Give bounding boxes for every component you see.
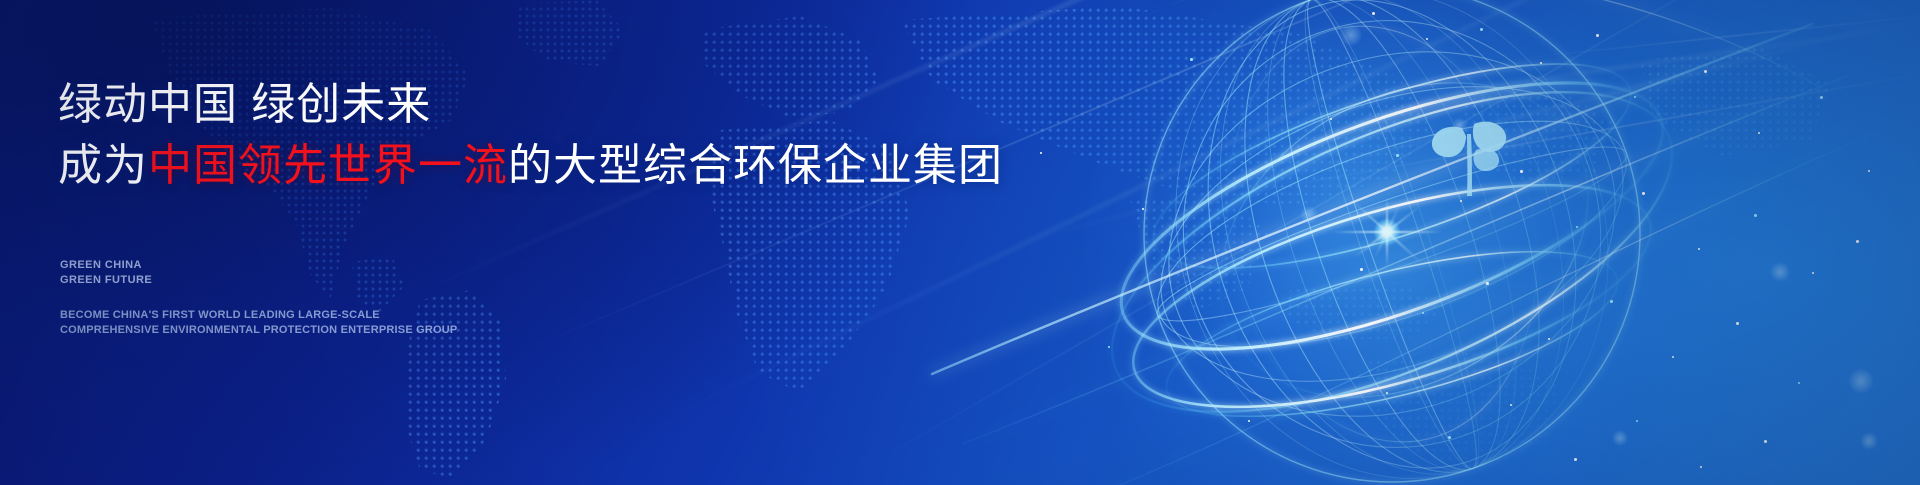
tagline-english-line-1: BECOME CHINA'S FIRST WORLD LEADING LARGE…	[60, 308, 457, 323]
hero-banner: 绿动中国 绿创未来 成为中国领先世界一流的大型综合环保企业集团 GREEN CH…	[0, 0, 1920, 485]
tagline-english: BECOME CHINA'S FIRST WORLD LEADING LARGE…	[60, 308, 457, 337]
headline-line-2: 成为中国领先世界一流的大型综合环保企业集团	[58, 138, 1003, 193]
headline-line-1: 绿动中国 绿创未来	[58, 77, 1003, 132]
headline-line-2-suffix: 的大型综合环保企业集团	[508, 141, 1003, 190]
tagline-english-line-2: COMPREHENSIVE ENVIRONMENTAL PROTECTION E…	[60, 323, 457, 338]
headline-line-2-emphasis: 中国领先世界一流	[148, 141, 508, 190]
slogan-english-line-2: GREEN FUTURE	[60, 273, 152, 288]
page-title: 绿动中国 绿创未来 成为中国领先世界一流的大型综合环保企业集团	[58, 77, 1003, 194]
headline-line-2-prefix: 成为	[58, 141, 148, 190]
sprout-leaf-icon	[1426, 110, 1512, 200]
copy-block: 绿动中国 绿创未来 成为中国领先世界一流的大型综合环保企业集团 GREEN CH…	[0, 0, 1060, 485]
slogan-english: GREEN CHINA GREEN FUTURE	[60, 258, 152, 287]
globe-glow	[1085, 0, 1705, 485]
wireframe-globe	[1052, 0, 1732, 485]
slogan-english-line-1: GREEN CHINA	[60, 258, 152, 273]
star-burst-icon	[1327, 172, 1447, 292]
